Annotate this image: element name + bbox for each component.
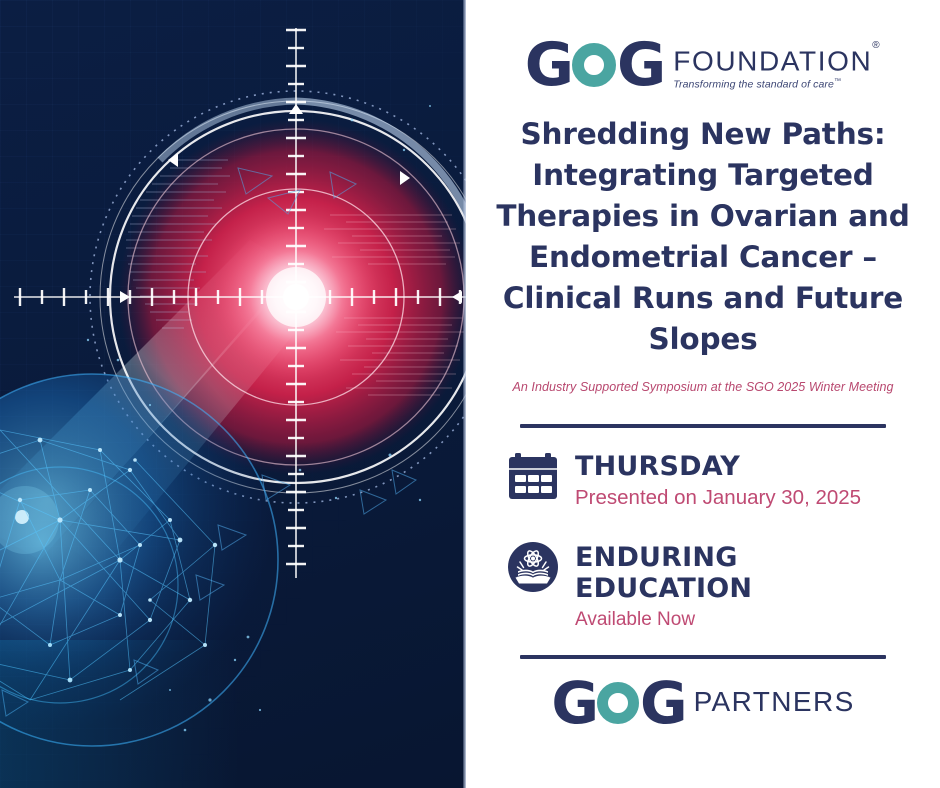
calendar-icon [507, 450, 559, 507]
event-details: THURSDAY Presented on January 30, 2025 [507, 450, 899, 633]
detail-row-education: ENDURING EDUCATION Available Now [507, 541, 899, 633]
detail-heading-education-line2: EDUCATION [575, 573, 752, 604]
brand-word: FOUNDATION® [673, 43, 881, 76]
detail-availability: Available Now [575, 607, 752, 633]
partners-letter-o [597, 682, 639, 724]
partners-letter-g2: G [640, 677, 685, 729]
detail-text-date: THURSDAY Presented on January 30, 2025 [575, 450, 861, 511]
content-panel: G G FOUNDATION® Transforming the standar… [466, 0, 940, 788]
brand-word-text: FOUNDATION [673, 46, 872, 77]
artwork-panel [0, 0, 466, 788]
gog-partners-logo: G G PARTNERS [551, 677, 854, 729]
brand-text-block: FOUNDATION® Transforming the standard of… [673, 43, 881, 92]
logo-letter-g2: G [617, 38, 663, 92]
registered-mark: ® [872, 40, 881, 51]
gog-wordmark: G G [525, 38, 664, 92]
trademark-mark: ™ [834, 78, 841, 85]
atom-book-icon [507, 541, 559, 598]
brand-tagline-text: Transforming the standard of care [673, 78, 834, 90]
partners-word: PARTNERS [694, 686, 855, 721]
detail-heading-day: THURSDAY [575, 451, 861, 482]
divider-bottom [520, 655, 886, 659]
event-promo-poster: G G FOUNDATION® Transforming the standar… [0, 0, 940, 788]
brand-tagline: Transforming the standard of care™ [673, 78, 881, 91]
logo-letter-o [572, 43, 616, 87]
detail-row-date: THURSDAY Presented on January 30, 2025 [507, 450, 899, 511]
gog-foundation-logo: G G FOUNDATION® Transforming the standar… [525, 34, 882, 92]
partners-wordmark: G G [551, 677, 684, 729]
detail-text-education: ENDURING EDUCATION Available Now [575, 541, 752, 633]
detail-date: Presented on January 30, 2025 [575, 485, 861, 511]
divider-top [520, 424, 886, 428]
logo-letter-g1: G [525, 38, 571, 92]
partners-letter-g1: G [551, 677, 596, 729]
targeting-sphere-illustration [0, 0, 466, 788]
event-title: Shredding New Paths: Integrating Targete… [477, 114, 929, 360]
event-subtitle: An Industry Supported Symposium at the S… [488, 380, 918, 394]
detail-heading-education-line1: ENDURING [575, 542, 752, 573]
